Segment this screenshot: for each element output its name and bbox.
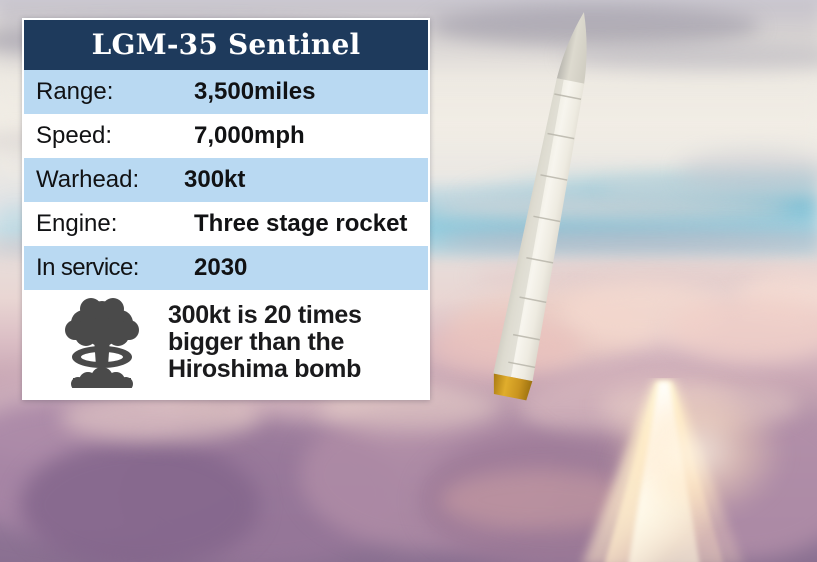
footnote-line-3: Hiroshima bomb: [168, 356, 362, 383]
spec-table: Range: 3,500miles Speed: 7,000mph Warhea…: [24, 70, 428, 290]
spec-value-in-service: 2030: [194, 256, 247, 280]
spec-label-in-service: In service:: [36, 256, 194, 280]
spec-value-range: 3,500miles: [194, 80, 315, 104]
info-card: LGM-35 Sentinel Range: 3,500miles Speed:…: [22, 18, 430, 400]
table-row: Speed: 7,000mph: [24, 114, 428, 158]
cloud-puff: [20, 440, 260, 562]
missile-illustration: [542, 12, 672, 412]
cloud-puff: [680, 150, 817, 190]
footnote-line-2: bigger than the: [168, 329, 362, 356]
spec-label-range: Range:: [36, 80, 194, 104]
spec-label-speed: Speed:: [36, 124, 194, 148]
infographic-stage: LGM-35 Sentinel Range: 3,500miles Speed:…: [0, 0, 817, 562]
exhaust-glow: [600, 380, 817, 560]
mushroom-cloud-icon: [36, 296, 168, 388]
table-row: In service: 2030: [24, 246, 428, 290]
spec-value-warhead: 300kt: [184, 168, 245, 192]
table-row: Warhead: 300kt: [24, 158, 428, 202]
spec-value-engine: Three stage rocket: [194, 212, 407, 236]
table-row: Engine: Three stage rocket: [24, 202, 428, 246]
footnote-line-1: 300kt is 20 times: [168, 302, 362, 329]
card-header: LGM-35 Sentinel: [24, 20, 428, 70]
page-title: LGM-35 Sentinel: [92, 31, 361, 59]
table-row: Range: 3,500miles: [24, 70, 428, 114]
spec-label-engine: Engine:: [36, 212, 194, 236]
spec-label-warhead: Warhead:: [36, 168, 184, 192]
footnote-text: 300kt is 20 times bigger than the Hirosh…: [168, 302, 362, 383]
spec-value-speed: 7,000mph: [194, 124, 305, 148]
footnote-block: 300kt is 20 times bigger than the Hirosh…: [24, 290, 428, 398]
